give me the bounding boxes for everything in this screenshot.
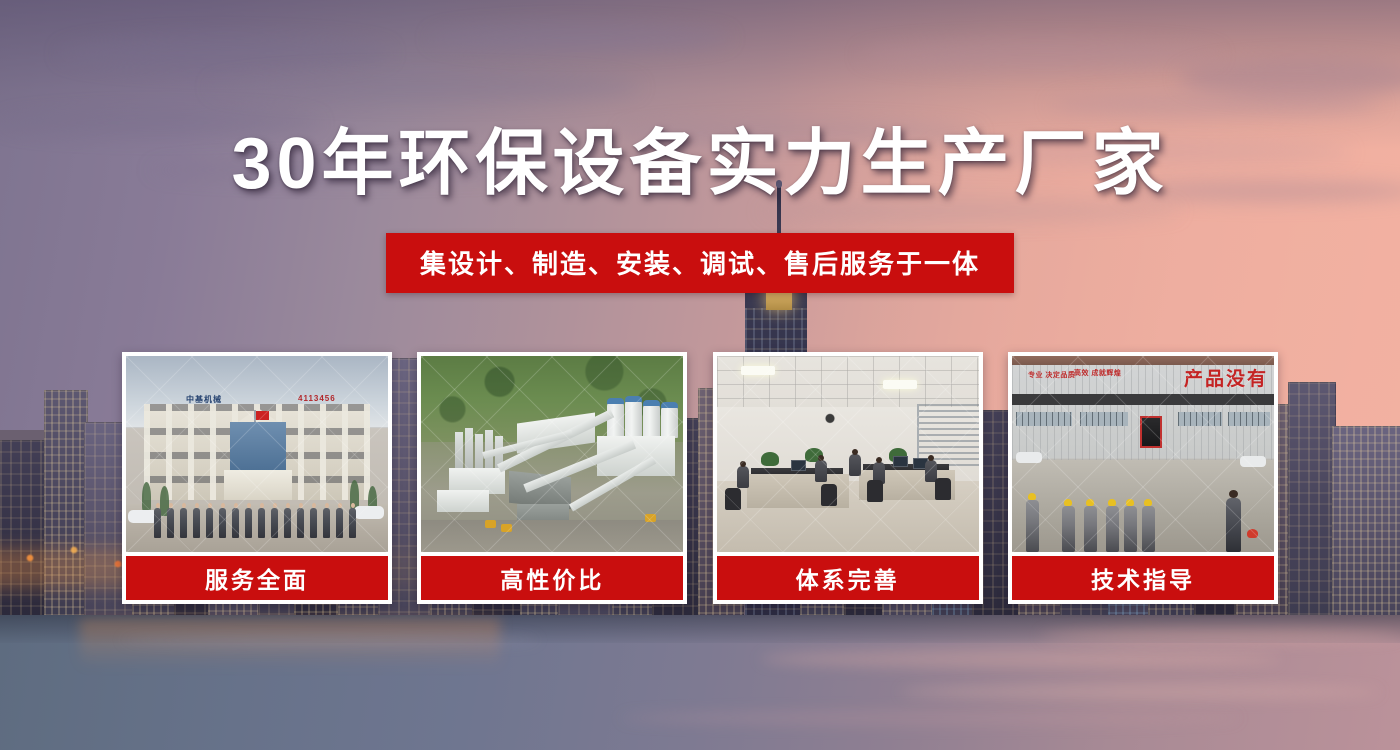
- water-streak: [1040, 629, 1400, 643]
- banner-subtitle: 集设计、制造、安装、调试、售后服务于一体: [386, 233, 1014, 293]
- red-helmet: [1247, 529, 1258, 538]
- water-streak: [120, 635, 540, 645]
- factory-slogan-small: 高效 成就辉煌: [1074, 370, 1121, 379]
- feature-card[interactable]: 中基机械 4113456: [122, 352, 392, 604]
- factory-slogan-small: 专业 决定品质: [1028, 372, 1075, 381]
- card-photo-workshop-training: 产品没有 专业 决定品质 高效 成就辉煌: [1012, 356, 1274, 552]
- worker: [1084, 506, 1097, 552]
- card-caption: 高性价比: [421, 556, 683, 600]
- water-streak: [760, 651, 1280, 667]
- feature-card[interactable]: 产品没有 专业 决定品质 高效 成就辉煌: [1008, 352, 1278, 604]
- building: [1332, 426, 1400, 640]
- building: [1288, 382, 1336, 640]
- factory-door: [1140, 416, 1162, 448]
- worker: [1026, 500, 1039, 552]
- cloud: [60, 36, 390, 70]
- worker: [1142, 506, 1155, 552]
- water-streak: [900, 685, 1380, 699]
- worker: [1124, 506, 1137, 552]
- staff-group: [154, 502, 360, 538]
- banner-subtitle-row: 集设计、制造、安装、调试、售后服务于一体: [0, 233, 1400, 293]
- card-photo-office-team: [717, 356, 979, 552]
- feature-card[interactable]: 体系完善: [713, 352, 983, 604]
- card-photo-production-plant: [421, 356, 683, 552]
- building: [44, 390, 88, 640]
- banner-headline: 30年环保设备实力生产厂家: [0, 128, 1400, 201]
- worker: [1106, 506, 1119, 552]
- building-signage: 中基机械: [186, 394, 222, 405]
- factory-slogan: 产品没有: [1184, 364, 1268, 391]
- river-water: [0, 615, 1400, 750]
- worker: [1062, 506, 1075, 552]
- water-streak: [620, 711, 1240, 725]
- feature-card[interactable]: 高性价比: [417, 352, 687, 604]
- card-caption: 体系完善: [717, 556, 979, 600]
- card-caption: 服务全面: [126, 556, 388, 600]
- card-photo-company-building: 中基机械 4113456: [126, 356, 388, 552]
- cloud: [860, 40, 1220, 70]
- building-phone: 4113456: [298, 394, 336, 403]
- cloud: [210, 72, 640, 102]
- card-caption: 技术指导: [1012, 556, 1274, 600]
- cloud: [430, 24, 730, 52]
- promo-banner: 30年环保设备实力生产厂家 集设计、制造、安装、调试、售后服务于一体 中基机械: [0, 0, 1400, 750]
- wall-emblem: [813, 408, 847, 434]
- feature-card-row: 中基机械 4113456: [122, 352, 1278, 604]
- supervisor: [1226, 498, 1241, 552]
